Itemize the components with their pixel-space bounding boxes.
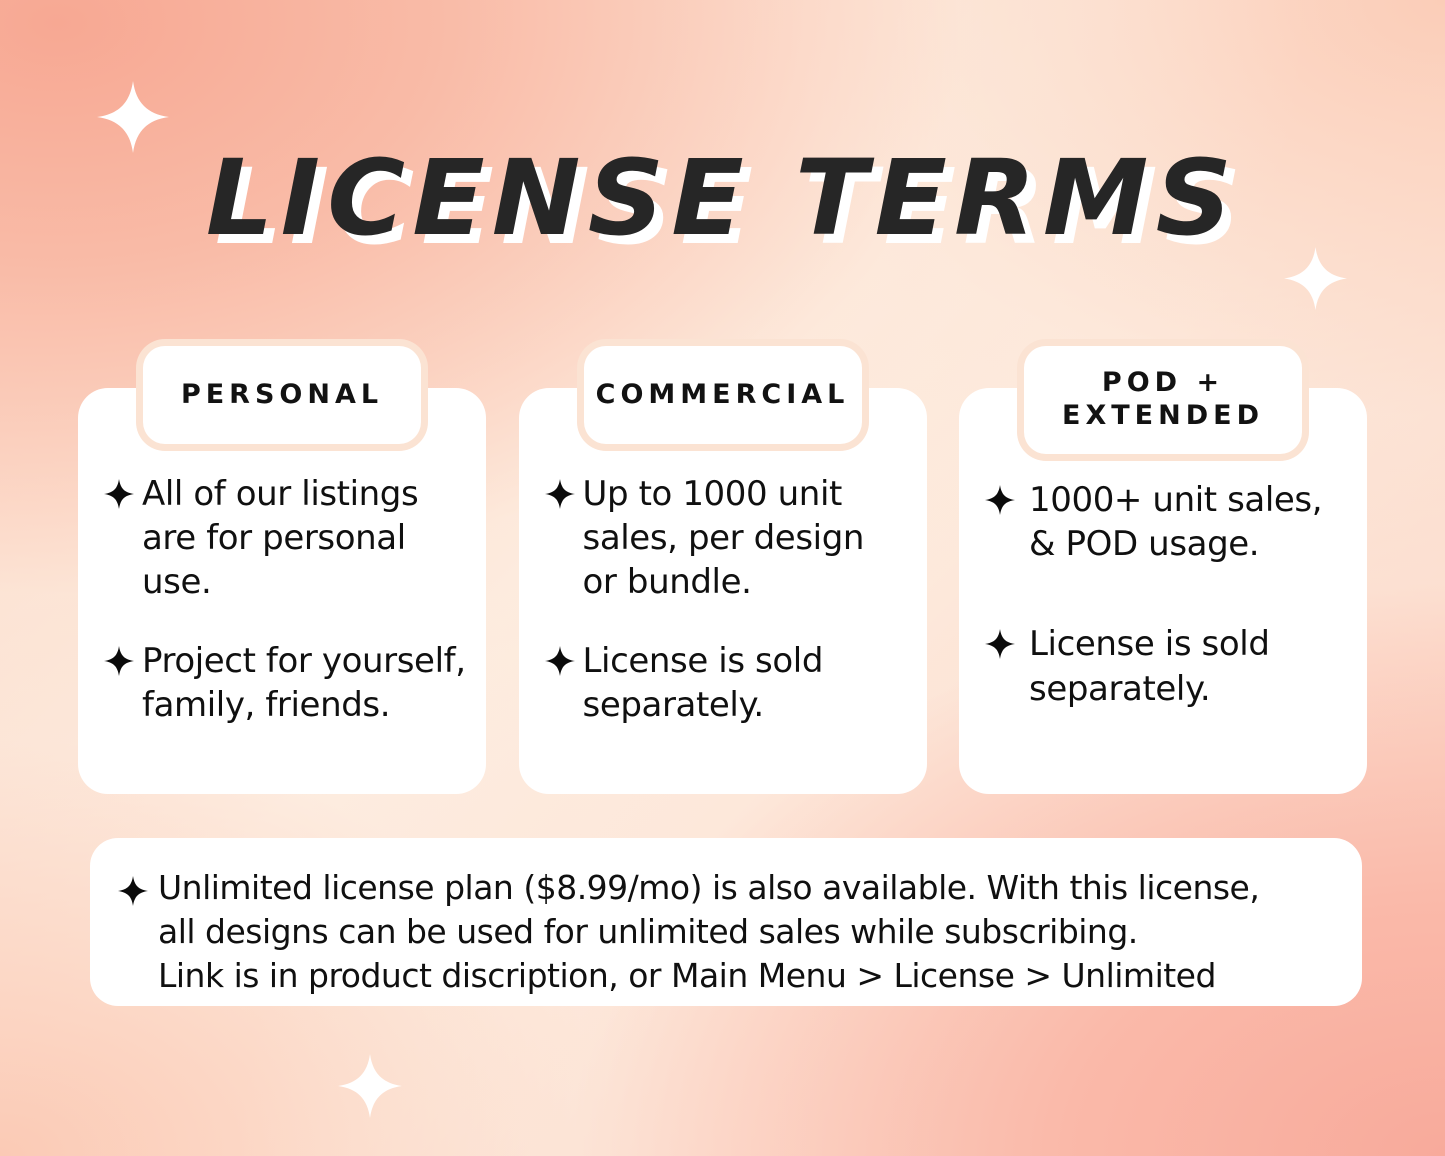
card-tab-personal: PERSONAL [143, 346, 421, 444]
list-item: License is sold separately. [545, 639, 909, 727]
list-item: Project for yourself, family, friends. [104, 639, 468, 727]
card-content-personal: All of our listings are for personal use… [104, 472, 468, 727]
bullet-text: Project for yourself, family, friends. [142, 639, 466, 727]
sparkle-bullet-icon [104, 646, 134, 676]
license-cards-row: PERSONAL All of our listings are for per… [78, 346, 1367, 794]
card-content-pod-extended: 1000+ unit sales, & POD usage. License i… [985, 478, 1349, 767]
card-tab-label-pod-extended: POD + EXTENDED [1062, 367, 1264, 433]
sparkle-top-right-icon [1284, 247, 1347, 310]
sparkle-top-left-icon [97, 81, 169, 153]
list-item: Up to 1000 unit sales, per design or bun… [545, 472, 909, 605]
card-tab-commercial: COMMERCIAL [584, 346, 862, 444]
card-tab-label-commercial: COMMERCIAL [596, 379, 850, 412]
license-terms-poster: LICENSE TERMS PERSONAL All of our listin… [0, 0, 1445, 1156]
list-item: License is sold separately. [985, 622, 1349, 710]
bullet-text: 1000+ unit sales, & POD usage. [1029, 478, 1322, 566]
bullet-text: All of our listings are for personal use… [142, 472, 418, 605]
page-title-container: LICENSE TERMS [0, 146, 1445, 250]
bullet-text: License is sold separately. [583, 639, 824, 727]
sparkle-bullet-icon [545, 646, 575, 676]
bullet-text: License is sold separately. [1029, 622, 1270, 710]
list-item: All of our listings are for personal use… [104, 472, 468, 605]
unlimited-plan-text: Unlimited license plan ($8.99/mo) is als… [158, 866, 1259, 998]
card-tab-label-personal: PERSONAL [181, 379, 383, 412]
unlimited-plan-banner-inner: Unlimited license plan ($8.99/mo) is als… [90, 838, 1362, 998]
page-title: LICENSE TERMS [206, 146, 1239, 250]
license-card-personal: PERSONAL All of our listings are for per… [78, 346, 486, 794]
list-item: 1000+ unit sales, & POD usage. [985, 478, 1349, 566]
card-content-commercial: Up to 1000 unit sales, per design or bun… [545, 472, 909, 727]
sparkle-bottom-left-icon [338, 1054, 402, 1118]
card-tab-pod-extended: POD + EXTENDED [1024, 346, 1302, 454]
sparkle-bullet-icon [545, 479, 575, 509]
bullet-text: Up to 1000 unit sales, per design or bun… [583, 472, 865, 605]
license-card-pod-extended: POD + EXTENDED 1000+ unit sales, & POD u… [959, 346, 1367, 794]
sparkle-bullet-icon [104, 479, 134, 509]
unlimited-plan-banner: Unlimited license plan ($8.99/mo) is als… [90, 838, 1362, 1006]
sparkle-bullet-icon [985, 485, 1015, 515]
license-card-commercial: COMMERCIAL Up to 1000 unit sales, per de… [519, 346, 927, 794]
sparkle-bullet-icon [985, 629, 1015, 659]
sparkle-bullet-icon [118, 876, 148, 906]
